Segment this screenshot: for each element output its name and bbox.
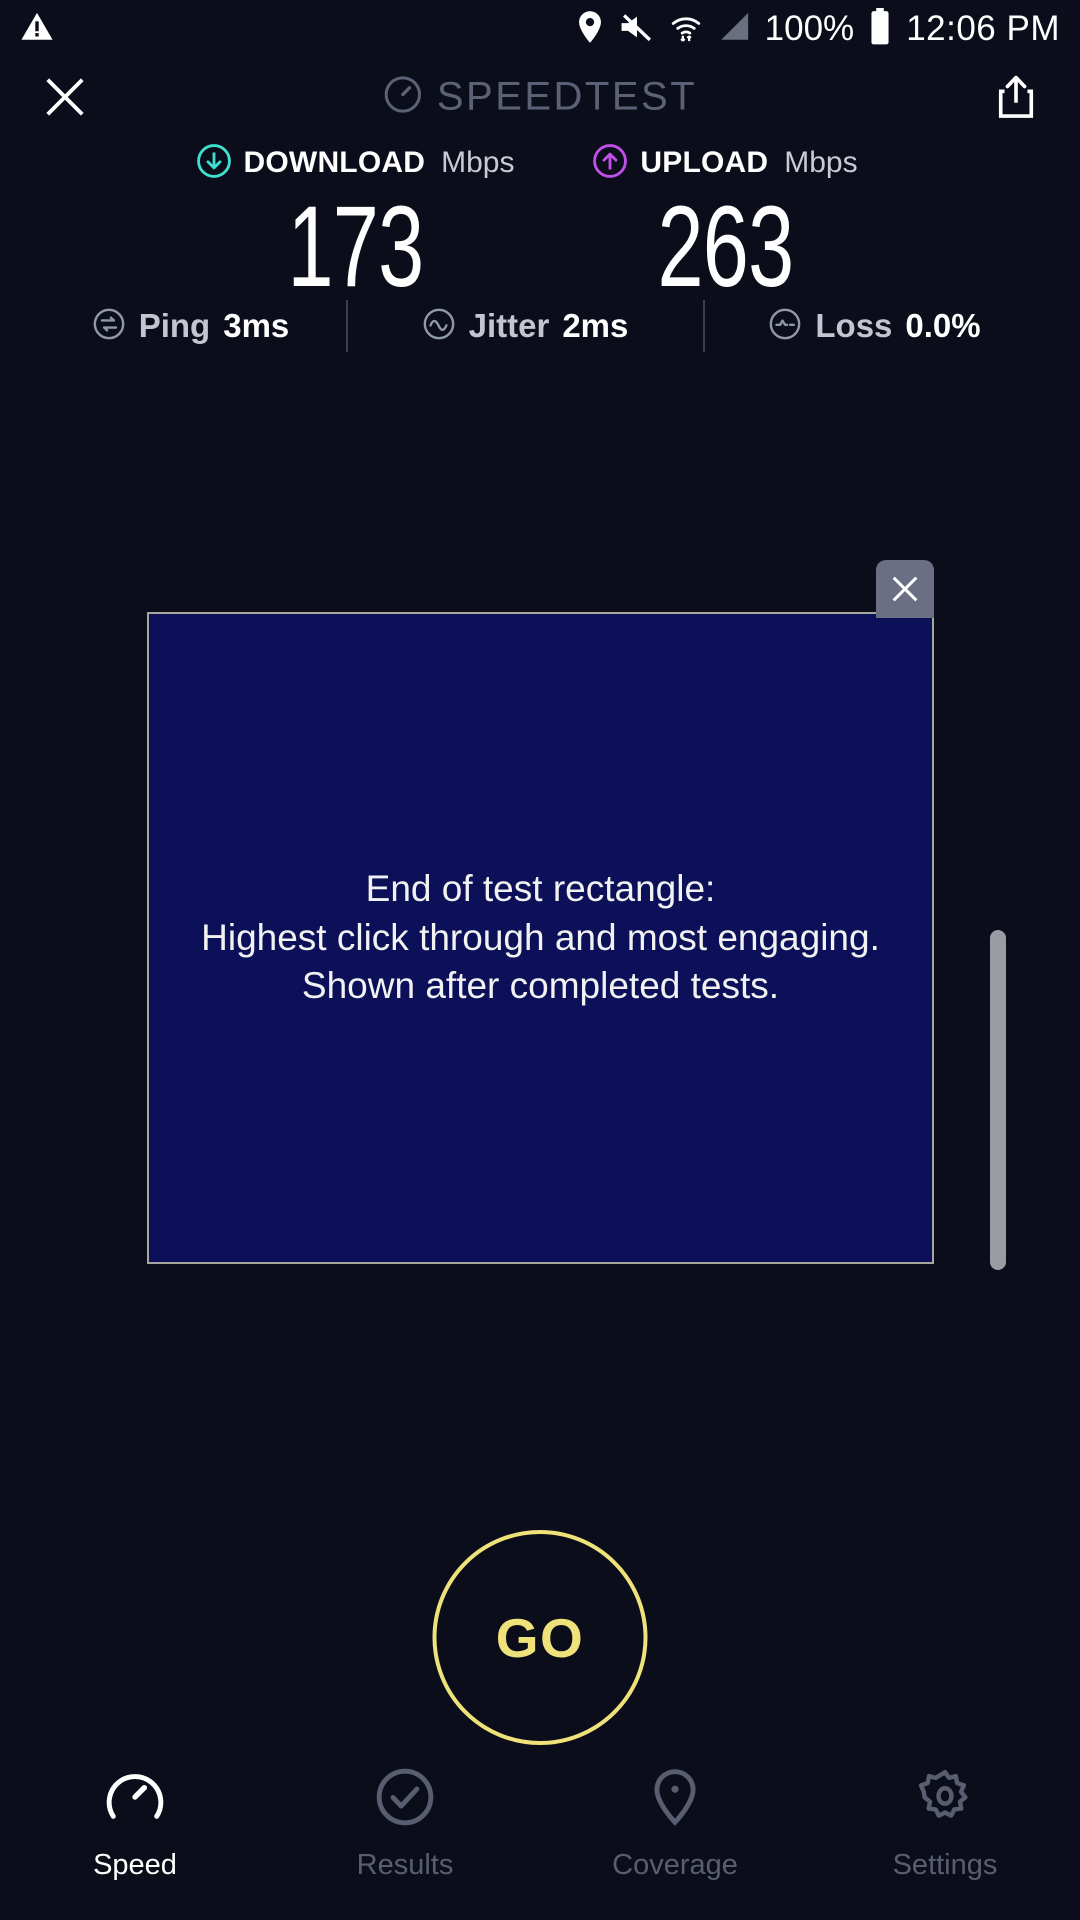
ad-text: End of test rectangle: Highest click thr… [185,865,896,1011]
jitter-value: 2ms [562,307,628,345]
brand-logo: SPEEDTEST [383,75,697,120]
mute-icon [619,10,655,49]
battery-percent-label: 100% [765,9,855,49]
gear-icon [914,1766,976,1833]
ad-line-3: Shown after completed tests. [201,962,880,1011]
ad-line-2: Highest click through and most engaging. [201,914,880,963]
nav-item-settings[interactable]: Settings [810,1766,1080,1882]
speedometer-icon [383,75,423,120]
speedtest-app-screen: 100% 12:06 PM SPEEDTEST [0,0,1080,1920]
jitter-label: Jitter [469,307,550,345]
loss-metric: Loss 0.0% [705,307,1045,346]
upload-result: UPLOAD Mbps 263 [540,140,910,305]
scrollbar-thumb[interactable] [990,930,1006,1270]
jitter-icon [422,307,456,346]
cell-signal-icon [717,11,751,48]
status-bar-left [20,10,54,49]
go-button-label: GO [496,1606,585,1670]
upload-arrow-icon [592,143,628,184]
loss-value: 0.0% [905,307,980,345]
bottom-navigation: Speed Results Coverage Settings [0,1760,1080,1920]
nav-label-results: Results [357,1849,454,1882]
status-bar-right: 100% 12:06 PM [575,8,1060,51]
wifi-icon [669,10,703,49]
results-panel: DOWNLOAD Mbps 173 UPLOAD Mbps 263 [0,140,1080,305]
close-button[interactable] [36,68,94,126]
nav-label-coverage: Coverage [612,1849,738,1882]
ping-metric: Ping 3ms [36,307,346,346]
location-pin-icon [575,10,605,49]
download-unit: Mbps [441,146,514,180]
loss-label: Loss [815,307,892,345]
warning-triangle-icon [20,10,54,49]
nav-item-results[interactable]: Results [270,1766,540,1882]
upload-unit: Mbps [784,146,857,180]
ping-label: Ping [139,307,211,345]
download-header: DOWNLOAD Mbps [196,140,515,186]
ad-line-1: End of test rectangle: [201,865,880,914]
download-result: DOWNLOAD Mbps 173 [170,140,540,305]
download-value: 173 [287,190,423,305]
download-label: DOWNLOAD [244,146,426,180]
nav-label-speed: Speed [93,1849,177,1882]
upload-label: UPLOAD [640,146,768,180]
go-button[interactable]: GO [433,1530,648,1745]
status-bar: 100% 12:06 PM [0,0,1080,58]
download-arrow-icon [196,143,232,184]
speedometer-icon [104,1766,166,1833]
network-metrics-row: Ping 3ms Jitter 2ms Loss 0.0% [0,300,1080,352]
ping-icon [92,307,126,346]
advertisement-container: End of test rectangle: Highest click thr… [147,612,934,1264]
ad-banner[interactable]: End of test rectangle: Highest click thr… [147,612,934,1264]
app-header: SPEEDTEST [0,58,1080,136]
location-pin-icon [644,1766,706,1833]
check-circle-icon [374,1766,436,1833]
upload-header: UPLOAD Mbps [592,140,857,186]
loss-icon [768,307,802,346]
nav-item-coverage[interactable]: Coverage [540,1766,810,1882]
brand-title: SPEEDTEST [437,75,697,120]
ad-close-button[interactable] [876,560,934,618]
battery-full-icon [868,8,892,51]
nav-label-settings: Settings [893,1849,998,1882]
share-button[interactable] [988,69,1044,125]
upload-value: 263 [657,190,793,305]
clock-label: 12:06 PM [906,9,1060,49]
jitter-metric: Jitter 2ms [348,307,703,346]
speed-results-row: DOWNLOAD Mbps 173 UPLOAD Mbps 263 [0,140,1080,305]
ping-value: 3ms [223,307,289,345]
nav-item-speed[interactable]: Speed [0,1766,270,1882]
